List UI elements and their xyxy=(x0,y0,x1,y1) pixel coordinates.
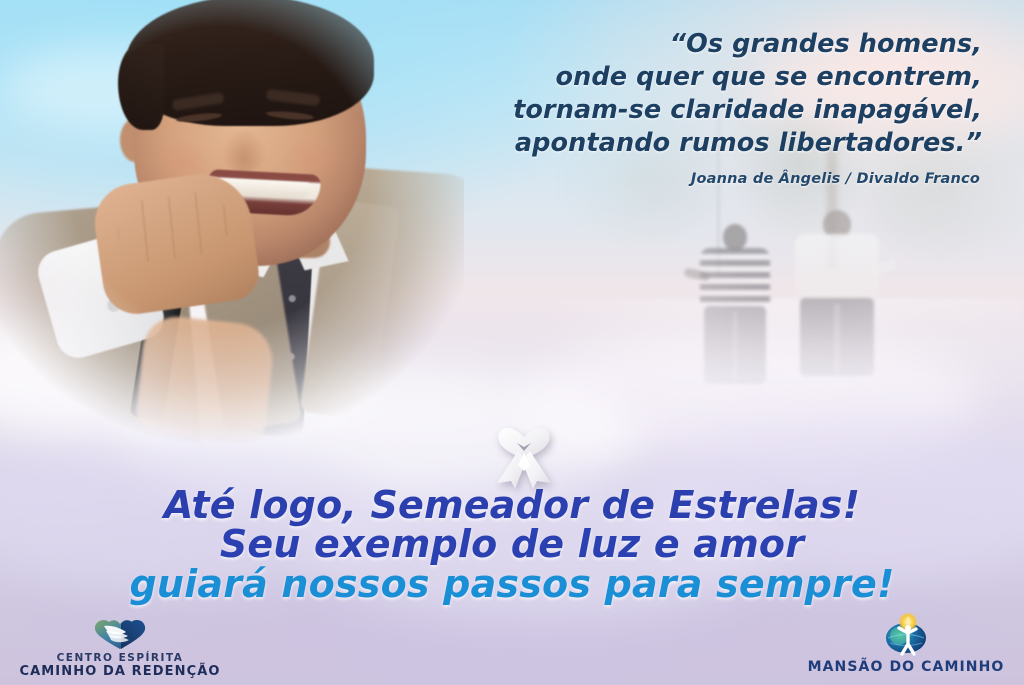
memorial-poster: “Os grandes homens, onde quer que se enc… xyxy=(0,0,1024,685)
quote-line-2: onde quer que se encontrem, xyxy=(422,61,982,94)
headline-line-1: Até logo, Semeador de Estrelas! xyxy=(0,486,1024,524)
quote-attribution: Joanna de Ângelis / Divaldo Franco xyxy=(420,171,980,187)
scene-ground xyxy=(555,340,1024,430)
portrait-photo xyxy=(0,0,464,460)
nose xyxy=(222,128,266,172)
headline-line-3: guiará nossos passos para sempre! xyxy=(0,565,1024,603)
scene-figure-adult xyxy=(795,210,879,392)
headline-line-2: Seu exemplo de luz e amor xyxy=(0,525,1024,563)
headline-block: Até logo, Semeador de Estrelas! Seu exem… xyxy=(0,486,1024,603)
figure-head xyxy=(723,224,747,250)
logo-mansao-do-caminho: MANSÃO DO CAMINHO xyxy=(796,612,1016,675)
quote-text: “Os grandes homens, onde quer que se enc… xyxy=(422,28,982,161)
figure-torso-striped xyxy=(700,248,770,308)
logo-centro-espirita: CENTRO ESPÍRITA CAMINHO DA REDENÇÃO xyxy=(8,618,232,679)
figure-torso-white-shirt xyxy=(795,234,879,300)
heart-hands-icon xyxy=(92,618,148,650)
figure-legs xyxy=(800,298,874,376)
white-mourning-ribbon-icon xyxy=(489,413,559,489)
hand-holding-microphone xyxy=(134,314,276,447)
quote-line-4: apontando rumos libertadores.” xyxy=(422,127,982,160)
scene-wall xyxy=(555,299,1024,345)
globe-torch-icon xyxy=(882,612,930,656)
hand-resting-on-chin xyxy=(90,168,263,318)
quote-line-3: tornam-se claridade inapagável, xyxy=(422,94,982,127)
figure-legs xyxy=(704,306,766,384)
logo-left-line-2: CAMINHO DA REDENÇÃO xyxy=(8,664,232,679)
quote-line-1: “Os grandes homens, xyxy=(422,28,982,61)
logo-right-line-1: MANSÃO DO CAMINHO xyxy=(796,659,1016,675)
hair xyxy=(126,0,374,126)
logo-left-line-1: CENTRO ESPÍRITA xyxy=(8,652,232,664)
scene-figure-child xyxy=(700,224,770,392)
